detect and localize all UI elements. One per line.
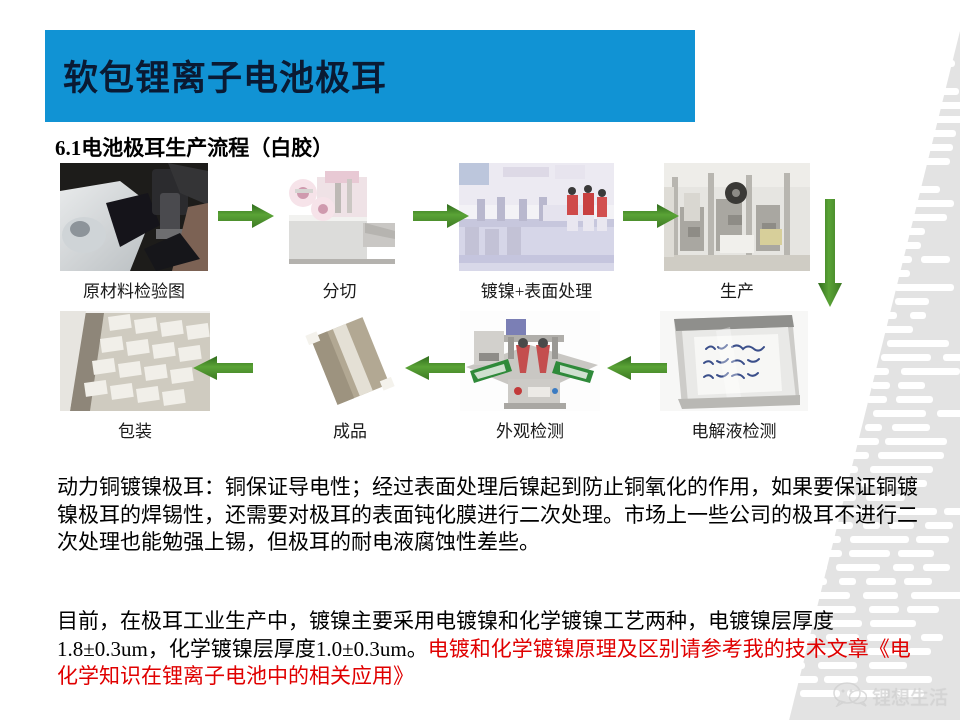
flow-label: 生产 [664, 277, 810, 302]
decor-line [836, 564, 880, 571]
flow-node-production: 生产 [664, 163, 810, 302]
decor-line [885, 172, 924, 179]
decor-line [857, 144, 879, 151]
decor-line [921, 256, 950, 263]
decor-line [774, 578, 827, 585]
arrow-right-icon [218, 203, 274, 234]
decor-line [764, 452, 805, 459]
decor-line [927, 74, 947, 81]
flow-label: 外观检测 [460, 417, 600, 442]
decor-line [873, 200, 901, 207]
decor-line [892, 130, 956, 137]
decor-line [760, 466, 797, 473]
decor-line [894, 284, 954, 291]
decor-line [861, 130, 886, 137]
decor-line [881, 354, 931, 361]
decor-line [907, 228, 925, 235]
decor-line [882, 60, 923, 67]
decor-line [853, 340, 875, 347]
decor-line [914, 200, 954, 207]
decor-line [901, 368, 960, 375]
decor-line [892, 424, 930, 431]
decor-line [806, 466, 858, 473]
decor-line [853, 158, 890, 165]
flow-label: 镀镍+表面处理 [459, 277, 614, 302]
decor-line [846, 326, 913, 333]
decor-line [923, 564, 950, 571]
arrow-right-icon [413, 203, 469, 234]
flow-node-nickel-plating: 镀镍+表面处理 [459, 163, 614, 302]
decor-line [933, 60, 955, 67]
finished-product-photo [300, 311, 400, 411]
decor-line [887, 340, 949, 347]
flow-node-material-inspection: 原材料检验图 [60, 163, 208, 302]
decor-line [874, 88, 920, 95]
electrolyte-test-pouch-photo [660, 311, 808, 411]
decor-line [910, 312, 926, 319]
arrow-down-icon [817, 199, 843, 312]
decor-line [760, 564, 767, 571]
decor-line [862, 228, 901, 235]
appearance-inspection-machine-photo [460, 311, 600, 411]
decor-line [868, 312, 897, 319]
decor-line [898, 382, 925, 389]
process-flow-diagram: 原材料检验图 [55, 163, 855, 453]
decor-line [863, 592, 898, 599]
material-inspection-photo [60, 163, 208, 271]
decor-line [892, 214, 947, 221]
decor-line [818, 452, 869, 459]
arrow-right-icon [623, 203, 679, 234]
flow-node-electrolyte-test: 电解液检测 [660, 311, 808, 442]
flow-label: 分切 [277, 277, 402, 302]
title-banner: 软包锂离子电池极耳 [45, 30, 695, 122]
flow-node-packaging: 包装 [60, 311, 210, 442]
body-paragraph-1: 动力铜镀镍极耳：铜保证导电性；经过表面处理后镍起到防止铜氧化的作用，如果要保证铜… [57, 474, 925, 557]
decor-line [911, 592, 960, 599]
arrow-left-icon [405, 355, 465, 386]
decor-line [869, 102, 919, 109]
slide-canvas: 软包锂离子电池极耳 6.1电池极耳生产流程（白胶） [0, 0, 960, 720]
decor-line [873, 256, 912, 263]
decor-line [885, 438, 947, 445]
decor-line [889, 242, 921, 249]
decor-line [865, 116, 915, 123]
decor-line [922, 116, 960, 123]
decor-line [888, 144, 953, 151]
decor-line [873, 410, 926, 417]
decor-line [866, 396, 887, 403]
decor-line [839, 578, 856, 585]
decor-line [870, 298, 887, 305]
production-line-photo [664, 163, 810, 271]
decor-line [896, 396, 933, 403]
page-title: 软包锂离子电池极耳 [63, 50, 387, 101]
watermark-text: 锂想生活 [872, 683, 948, 710]
decor-line [943, 354, 960, 361]
flow-node-appearance-inspection: 外观检测 [460, 311, 600, 442]
flow-label: 原材料检验图 [60, 277, 208, 302]
decor-line [904, 578, 932, 585]
flow-label: 包装 [60, 417, 210, 442]
decor-line [944, 508, 960, 515]
decor-line [760, 592, 777, 599]
nickel-plating-workshop-photo [459, 163, 614, 271]
decor-line [929, 88, 959, 95]
body-paragraph-2: 目前，在极耳工业生产中，镀镍主要采用电镀镍和化学镀镍工艺两种，电镀镍层厚度1.8… [57, 608, 925, 691]
decor-line [760, 578, 767, 585]
decor-line [900, 158, 950, 165]
decor-line [866, 578, 896, 585]
decor-line [878, 452, 944, 459]
decor-line [870, 466, 933, 473]
decor-line [788, 592, 850, 599]
arrow-left-icon [193, 355, 253, 386]
slitting-machine-photo [277, 163, 402, 271]
packaging-photo [60, 311, 210, 411]
flow-node-slitting: 分切 [277, 163, 402, 302]
flow-label: 成品 [300, 417, 400, 442]
decor-line [884, 186, 940, 193]
decor-line [925, 102, 960, 109]
arrow-left-icon [607, 355, 667, 386]
decor-line [865, 424, 882, 431]
decor-line [871, 382, 890, 389]
decor-line [937, 410, 960, 417]
flow-node-finished-product: 成品 [300, 311, 400, 442]
decor-line [880, 270, 910, 277]
decor-line [893, 564, 914, 571]
watermark: 锂想生活 [833, 681, 948, 712]
flow-label: 电解液检测 [660, 417, 808, 442]
decor-line [925, 522, 953, 529]
wechat-bubble-icon [833, 681, 867, 712]
decor-line [878, 74, 917, 81]
decor-line [895, 298, 929, 305]
decor-line [773, 564, 827, 571]
section-subtitle: 6.1电池极耳生产流程（白胶） [55, 132, 333, 162]
